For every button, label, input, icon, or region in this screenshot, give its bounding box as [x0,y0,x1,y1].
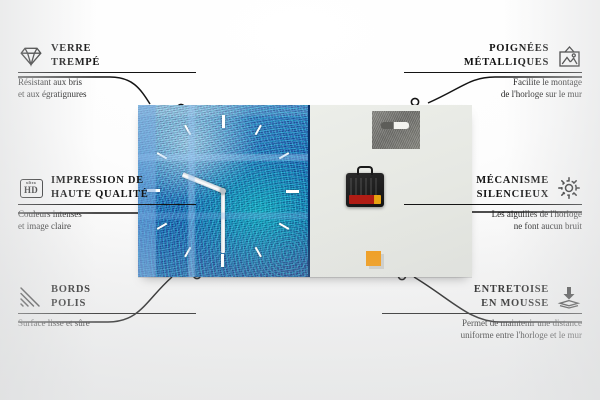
clock-minute-hand [221,191,225,253]
feature-header: BORDS POLIS [18,283,196,311]
feature-description: Résistant aux bris et aux égratignures [18,77,196,100]
feature-title: MÉCANISME SILENCIEUX [476,174,549,202]
feature-title: IMPRESSION DE HAUTE QUALITÉ [51,174,149,202]
feature-poignees-metalliques[interactable]: POIGNÉES MÉTALLIQUES Facilite le montage… [404,42,582,100]
clock-tick [222,115,224,191]
divider [404,72,582,73]
foam-spacer [366,251,381,266]
feature-description: Permet de maintenir une distance uniform… [382,318,582,341]
feature-title: BORDS POLIS [51,283,91,311]
feature-header: ENTRETOISE EN MOUSSE [382,283,582,311]
quartz-mechanism [346,173,384,207]
infographic-canvas: VERRE TREMPÉ Résistant aux bris et aux é… [0,0,600,400]
feature-verre-trempe[interactable]: VERRE TREMPÉ Résistant aux bris et aux é… [18,42,196,100]
divider [18,72,196,73]
arrow-down-layers-icon [556,285,582,309]
feature-description: Couleurs intenses et image claire [18,209,196,232]
feature-entretoise-en-mousse[interactable]: ENTRETOISE EN MOUSSE Permet de maintenir… [382,283,582,341]
metal-hanger-bracket [372,111,420,149]
feature-impression-hd[interactable]: ultra HD IMPRESSION DE HAUTE QUALITÉ Cou… [18,174,196,232]
clock-tick [223,190,299,192]
feature-title: POIGNÉES MÉTALLIQUES [464,42,549,70]
ultra-hd-icon: ultra HD [18,176,44,200]
feature-header: VERRE TREMPÉ [18,42,196,70]
polished-edge-icon [18,285,44,309]
feature-bords-polis[interactable]: BORDS POLIS Surface lisse et sûre [18,283,196,330]
divider [18,313,196,314]
divider [382,313,582,314]
feature-mecanisme-silencieux[interactable]: MÉCANISME SILENCIEUX Les aiguilles de l'… [404,174,582,232]
feature-title: VERRE TREMPÉ [51,42,100,70]
gear-icon [556,176,582,200]
clock-tick [222,191,262,258]
divider [404,204,582,205]
feature-header: POIGNÉES MÉTALLIQUES [404,42,582,70]
clock-tick [222,125,262,192]
feature-description: Surface lisse et sûre [18,318,196,330]
battery [349,195,381,204]
divider [18,204,196,205]
clock-center-pin [220,188,226,194]
clock-tick [223,190,290,230]
clock-tick [222,191,224,267]
feature-description: Facilite le montage de l'horloge sur le … [404,77,582,100]
feature-title: ENTRETOISE EN MOUSSE [474,283,549,311]
diamond-icon [18,44,44,68]
feature-header: ultra HD IMPRESSION DE HAUTE QUALITÉ [18,174,196,202]
feature-description: Les aiguilles de l'horloge ne font aucun… [404,209,582,232]
clock-tick [223,152,290,192]
feature-header: MÉCANISME SILENCIEUX [404,174,582,202]
mechanism-texture [350,178,380,196]
mechanism-hook-icon [357,166,373,175]
hanging-frame-icon [556,44,582,68]
